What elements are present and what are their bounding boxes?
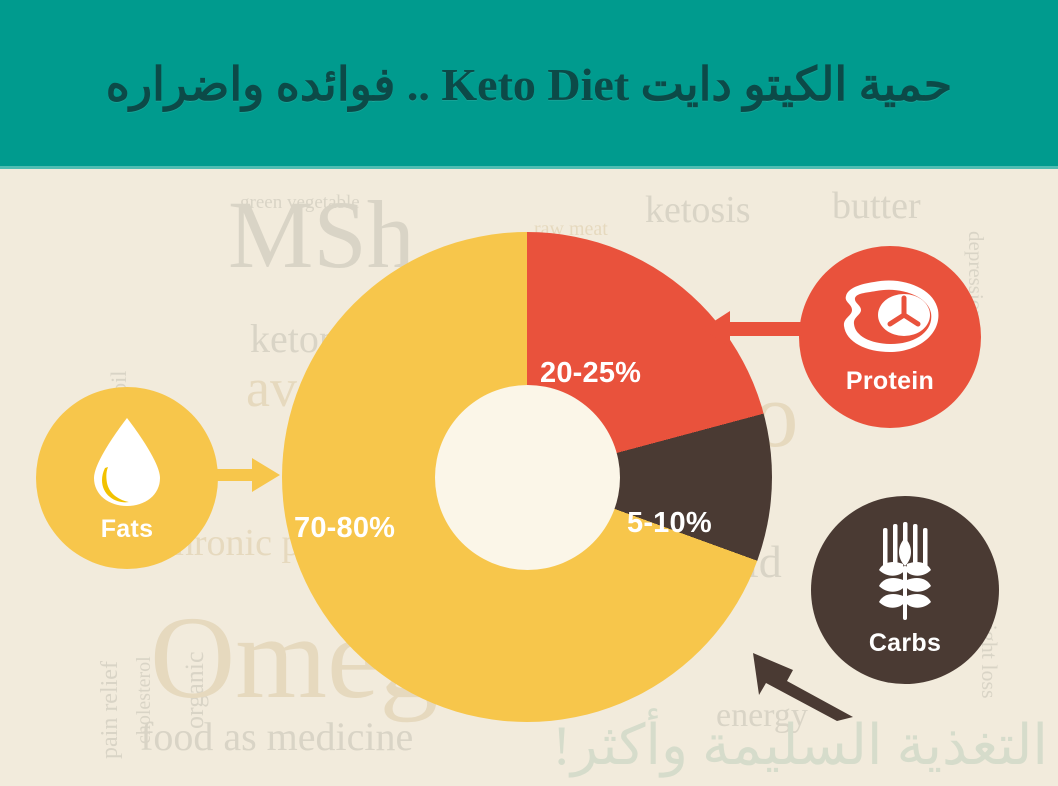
node-protein-label: Protein — [846, 367, 934, 396]
arrow-fats-to-chart — [208, 454, 282, 496]
watermark-word: pain relief — [98, 661, 122, 759]
node-carbs[interactable]: Carbs — [811, 496, 999, 684]
arrow-protein-to-chart — [700, 309, 812, 349]
slice-label-fats: 70-80% — [294, 512, 395, 545]
watermark-word: food as medicine — [140, 717, 413, 757]
page-header: حمية الكيتو دايت Keto Diet .. فوائده واض… — [0, 0, 1058, 168]
node-carbs-label: Carbs — [869, 629, 941, 658]
watermark-word: ketosis — [645, 191, 751, 229]
wheat-icon — [863, 522, 947, 627]
macronutrient-donut-chart[interactable]: 20-25% 5-10% 70-80% — [282, 232, 772, 722]
arrow-carbs-to-chart — [745, 647, 855, 723]
donut-center-hole — [435, 385, 620, 570]
node-fats[interactable]: Fats — [36, 387, 218, 569]
slice-label-carbs: 5-10% — [627, 507, 712, 540]
water-drop-icon — [88, 416, 166, 513]
infographic-canvas: green vegetable coconut oil epilepsy ket… — [0, 169, 1058, 786]
watermark-word: butter — [832, 187, 921, 225]
steak-icon — [838, 278, 942, 363]
node-protein[interactable]: Protein — [799, 246, 981, 428]
page-title: حمية الكيتو دايت Keto Diet .. فوائده واض… — [106, 57, 952, 111]
slice-label-protein: 20-25% — [540, 357, 641, 390]
node-fats-label: Fats — [101, 515, 154, 544]
